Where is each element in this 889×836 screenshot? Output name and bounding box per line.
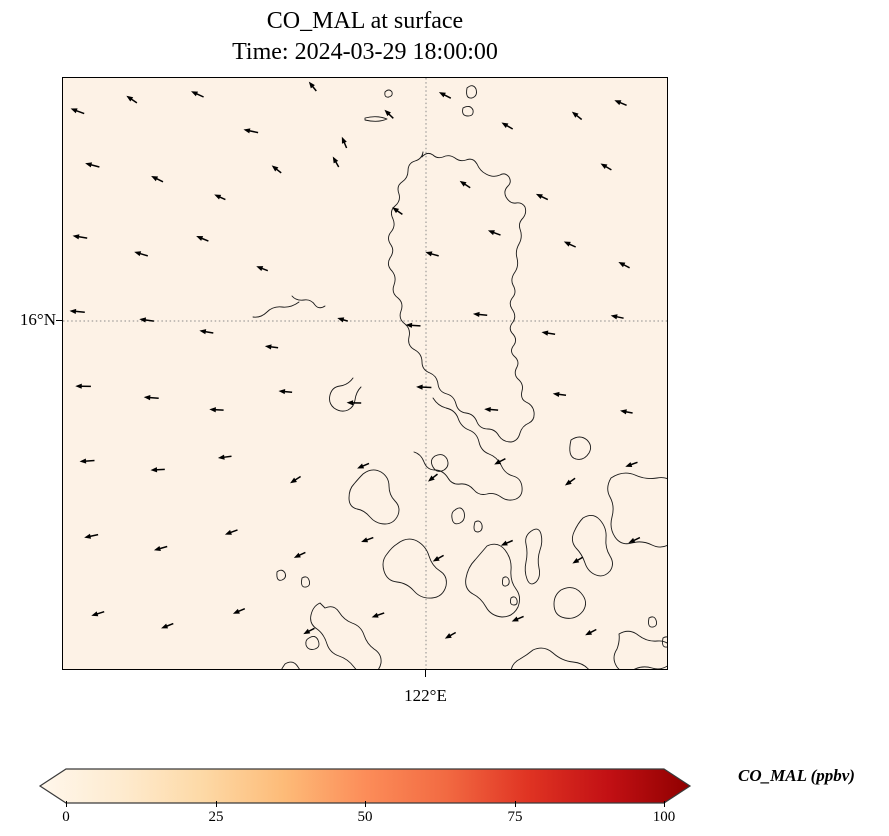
wind-arrow <box>153 544 168 553</box>
y-tick-mark-16n <box>56 320 63 321</box>
wind-arrow <box>563 239 577 249</box>
wind-arrow <box>270 163 283 175</box>
wind-arrow <box>160 621 174 631</box>
wind-arrow <box>391 205 404 216</box>
wind-arrow <box>307 80 319 93</box>
wind-quiver-layer <box>69 80 641 641</box>
wind-arrow <box>563 476 576 487</box>
title-variable-line: CO_MAL at surface <box>0 6 730 37</box>
wind-arrow <box>535 191 549 201</box>
wind-arrow <box>190 89 205 100</box>
wind-arrow <box>79 458 94 464</box>
wind-arrow <box>371 610 385 619</box>
wind-arrow <box>90 609 104 618</box>
wind-arrow <box>552 391 566 398</box>
wind-arrow <box>356 461 370 471</box>
wind-arrow <box>133 249 148 258</box>
wind-arrow <box>599 161 613 172</box>
wind-arrow <box>84 161 100 170</box>
wind-arrow <box>416 384 432 390</box>
colorbar-tick-label-25: 25 <box>209 809 224 826</box>
wind-arrow <box>487 228 501 238</box>
wind-arrow <box>69 308 85 315</box>
wind-arrow <box>484 406 498 412</box>
wind-arrow <box>243 127 259 135</box>
wind-arrow <box>302 626 316 636</box>
wind-arrow <box>438 90 452 101</box>
wind-arrow <box>541 330 555 337</box>
wind-arrow <box>610 313 624 321</box>
colorbar-tick-label-0: 0 <box>62 809 70 826</box>
wind-arrow <box>195 234 209 244</box>
wind-arrow <box>426 472 439 484</box>
wind-arrow <box>70 106 85 116</box>
wind-arrow <box>425 250 440 259</box>
coastline-layer <box>213 86 668 670</box>
wind-arrow <box>265 344 279 351</box>
wind-arrow <box>584 627 598 637</box>
wind-arrow <box>218 454 232 461</box>
wind-arrow <box>289 474 302 485</box>
wind-arrow <box>150 174 164 184</box>
wind-arrow <box>150 467 165 473</box>
wind-arrow <box>617 260 631 270</box>
colorbar-tick-100 <box>664 801 665 807</box>
wind-arrow <box>75 383 91 389</box>
wind-arrow <box>431 553 444 564</box>
wind-arrow <box>511 614 525 624</box>
wind-arrow <box>500 120 514 131</box>
wind-arrow <box>278 388 292 395</box>
wind-arrow <box>624 460 638 469</box>
x-tick-mark-122e <box>425 670 426 677</box>
y-tick-label-16n: 16°N <box>20 310 56 330</box>
wind-arrow <box>293 550 307 560</box>
colorbar-tick-25 <box>216 801 217 807</box>
wind-arrow <box>232 606 246 616</box>
figure-title: CO_MAL at surface Time: 2024-03-29 18:00… <box>0 6 730 67</box>
colorbar-gradient-swatch <box>40 769 690 803</box>
wind-arrow <box>458 179 471 190</box>
wind-arrow <box>570 110 583 122</box>
wind-arrow <box>84 532 99 540</box>
wind-arrow <box>337 316 349 324</box>
colorbar-canvas <box>36 765 692 807</box>
wind-arrow <box>139 316 154 323</box>
colorbar-tick-50 <box>365 801 366 807</box>
wind-arrow <box>255 264 268 273</box>
map-canvas <box>63 78 668 670</box>
wind-arrow <box>213 192 226 202</box>
wind-arrow <box>209 407 224 413</box>
wind-arrow <box>125 94 138 105</box>
wind-arrow <box>339 136 349 149</box>
wind-arrow <box>224 527 238 537</box>
wind-arrow <box>199 328 214 336</box>
colorbar-tick-75 <box>515 801 516 807</box>
colorbar-tick-label-100: 100 <box>653 809 676 826</box>
wind-arrow <box>360 535 374 544</box>
wind-arrow <box>620 408 634 415</box>
colorbar-label: CO_MAL (ppbv) <box>738 766 855 786</box>
colorbar-tick-0 <box>66 801 67 807</box>
wind-arrow <box>144 395 159 401</box>
colorbar-tick-label-50: 50 <box>358 809 373 826</box>
wind-arrow <box>330 155 340 168</box>
map-axes[interactable] <box>62 77 668 670</box>
colorbar[interactable] <box>36 765 692 807</box>
x-tick-label-122e: 122°E <box>0 686 851 706</box>
colorbar-tick-label-75: 75 <box>508 809 523 826</box>
wind-arrow <box>613 98 627 108</box>
map-gridlines <box>63 78 668 670</box>
wind-arrow <box>473 311 488 318</box>
title-time-line: Time: 2024-03-29 18:00:00 <box>0 37 730 68</box>
wind-arrow <box>444 630 457 641</box>
wind-arrow <box>72 233 87 241</box>
